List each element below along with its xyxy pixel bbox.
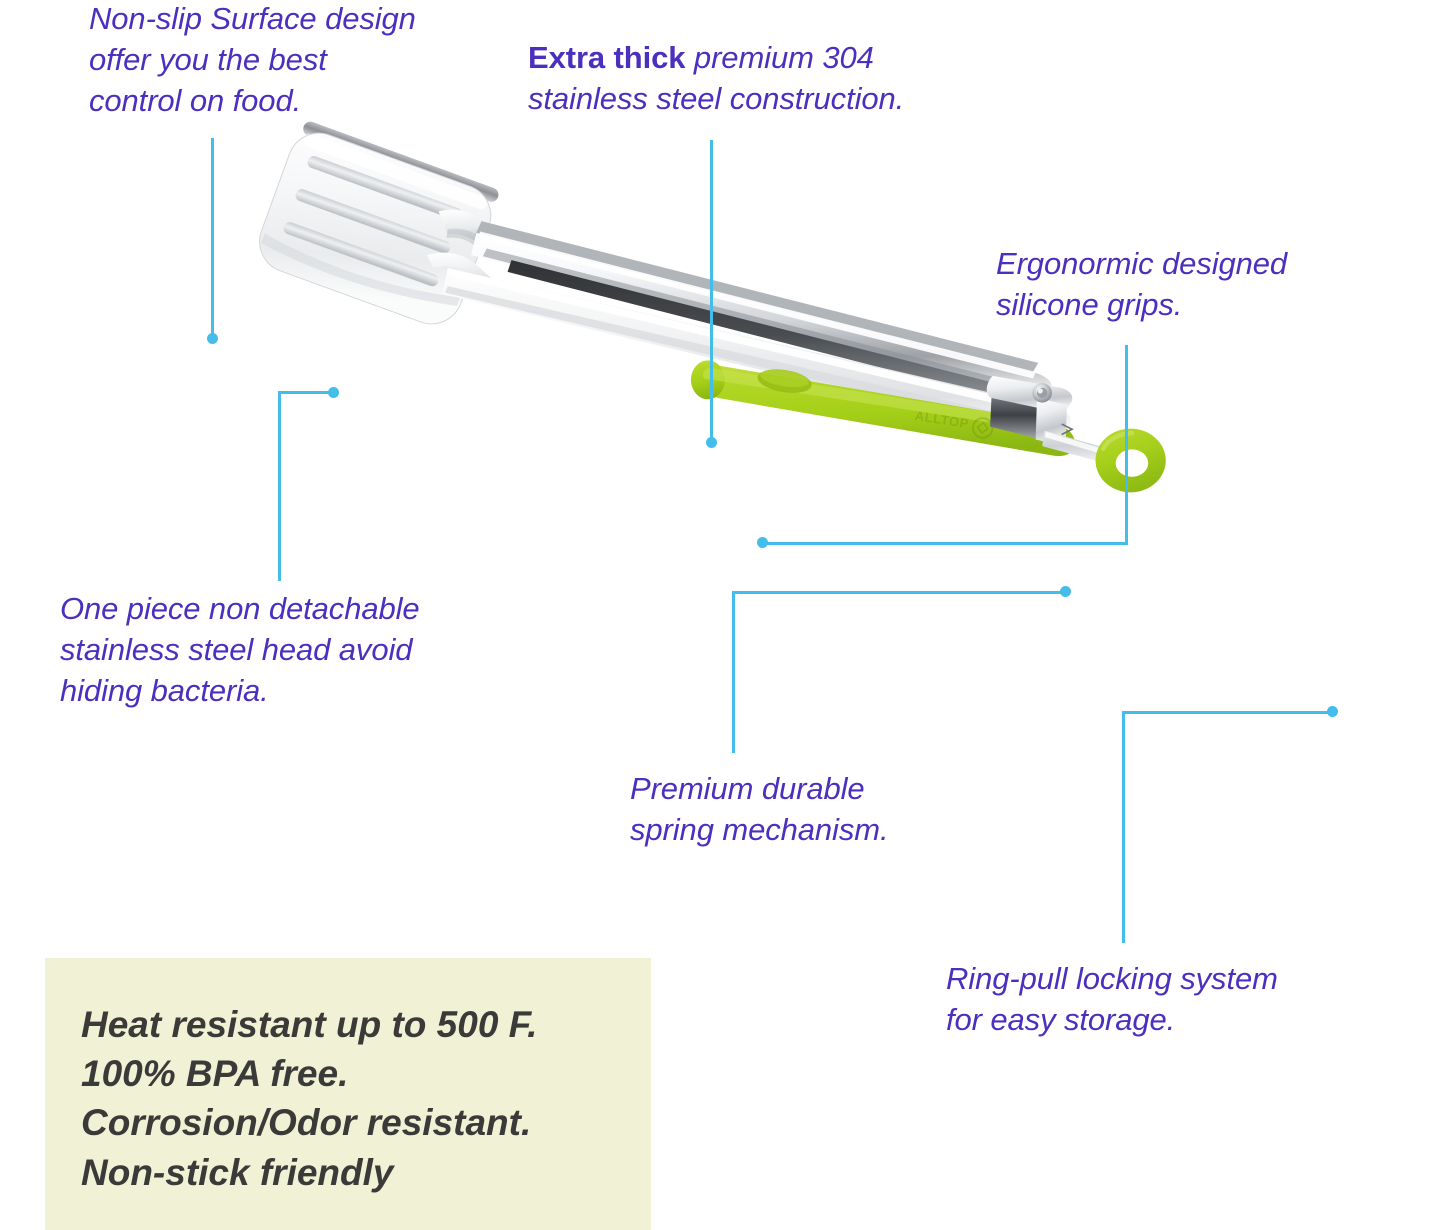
leader-dot-ringpull — [1327, 706, 1338, 717]
callout-ergonomic-grips: Ergonormic designed silicone grips. — [996, 243, 1386, 325]
callout-extra-thick: Extra thick premium 304 stainless steel … — [528, 37, 998, 119]
leader-line-ergonomic-h — [762, 542, 1128, 545]
leader-line-one-piece-v — [278, 391, 281, 581]
leader-line-ringpull-h — [1122, 711, 1332, 714]
spec-highlight-box: Heat resistant up to 500 F. 100% BPA fre… — [45, 958, 651, 1230]
leader-line-ringpull-v — [1122, 711, 1125, 943]
callout-ring-pull-lock: Ring-pull locking system for easy storag… — [946, 958, 1366, 1040]
leader-line-spring-h — [732, 591, 1066, 594]
callout-one-piece-head: One piece non detachable stainless steel… — [60, 588, 510, 712]
leader-line-ergonomic-v — [1125, 345, 1128, 544]
leader-line-non-slip — [211, 138, 214, 338]
callout-spring-mechanism: Premium durable spring mechanism. — [630, 768, 970, 850]
callout-extra-thick-lead: Extra thick — [528, 40, 685, 75]
infographic-canvas: ALLTOP — [0, 0, 1445, 1230]
leader-dot-one-piece — [328, 387, 339, 398]
leader-dot-ergonomic — [757, 537, 768, 548]
leader-dot-extra-thick — [706, 437, 717, 448]
leader-line-extra-thick — [710, 140, 713, 442]
leader-dot-non-slip — [207, 333, 218, 344]
ring-pull — [1096, 429, 1166, 493]
leader-line-one-piece-h — [278, 391, 334, 394]
callout-non-slip: Non-slip Surface design offer you the be… — [89, 0, 489, 122]
leader-dot-spring — [1060, 586, 1071, 597]
leader-line-spring-v — [732, 591, 735, 753]
